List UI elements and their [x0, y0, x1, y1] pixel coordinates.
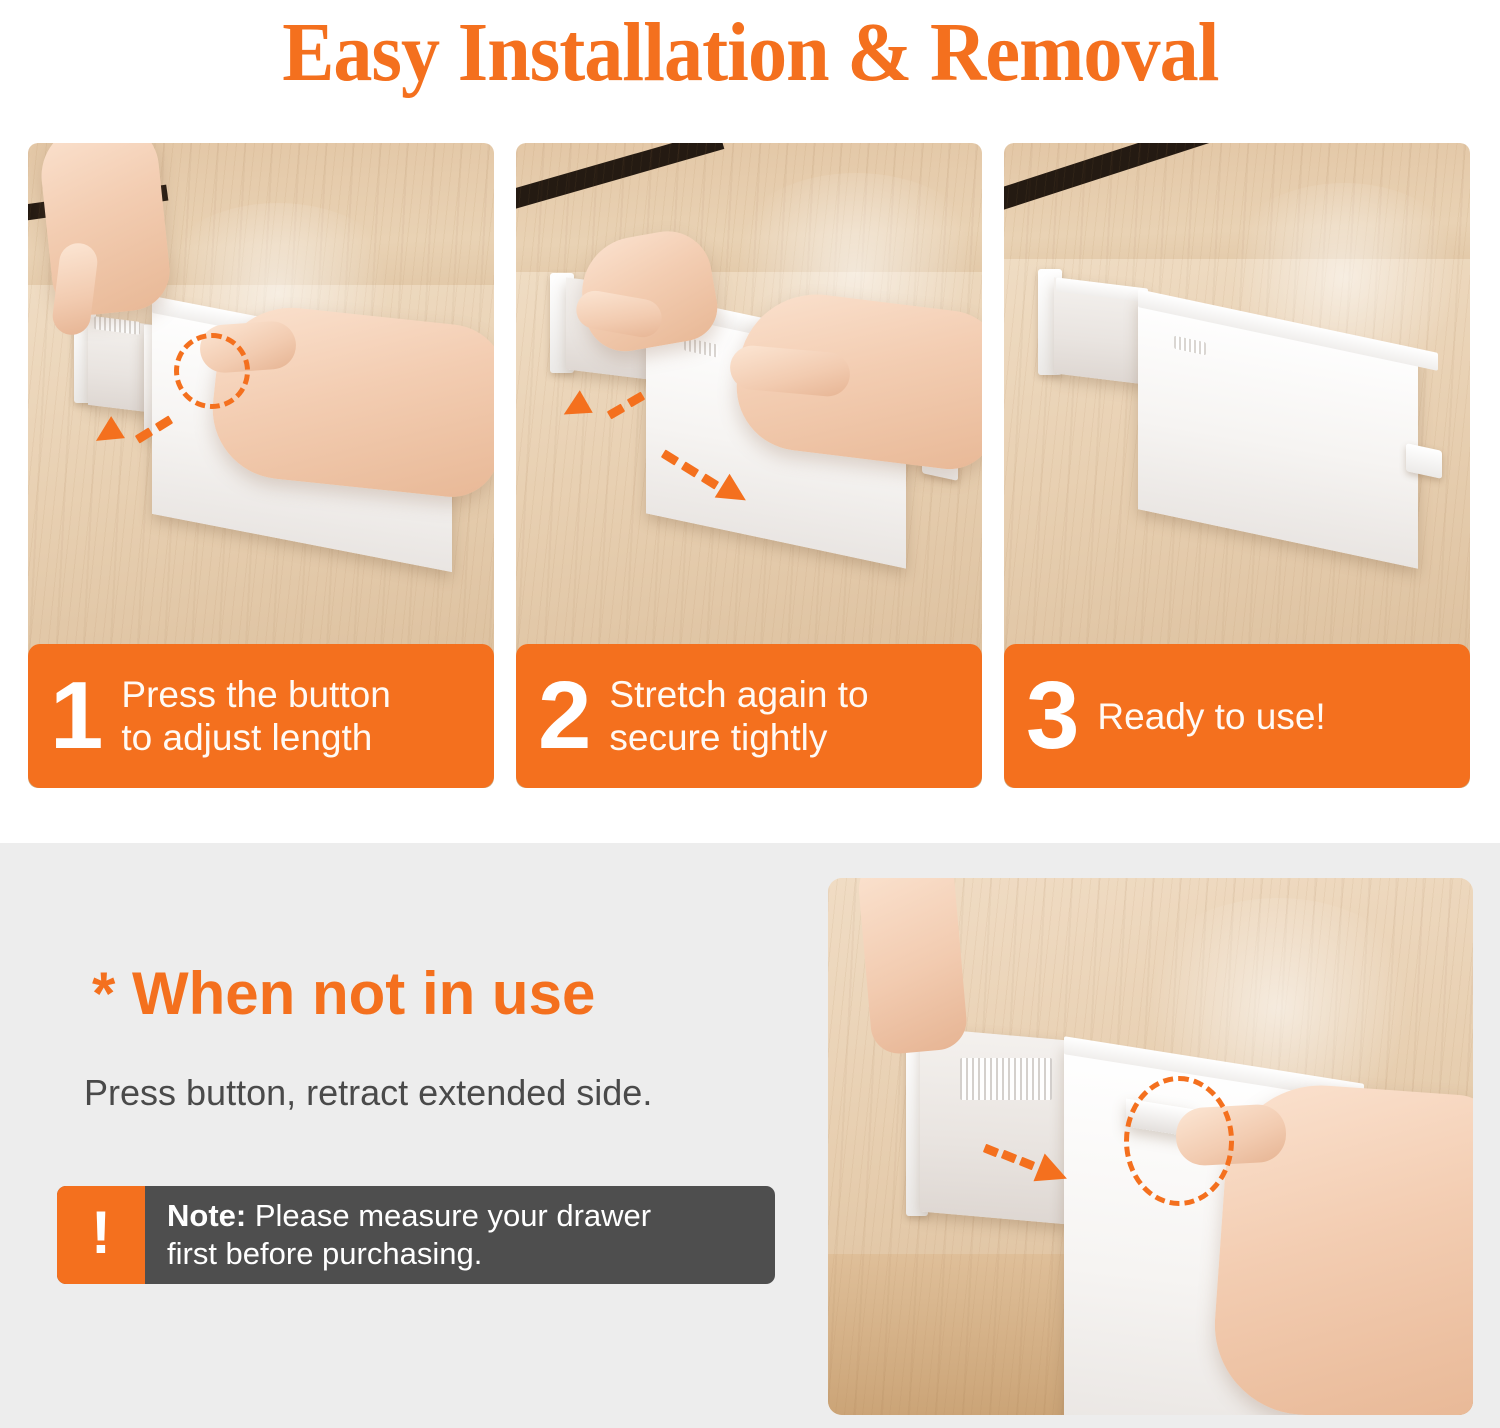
note-label: Note:	[167, 1198, 246, 1233]
step-1-line-1: Press the button	[121, 674, 390, 715]
step-3-caption: 3 Ready to use!	[1004, 644, 1470, 788]
top-index-finger	[855, 878, 969, 1056]
dashed-arrow-upleft-icon	[550, 379, 650, 433]
dashed-arrow-left-icon	[84, 411, 174, 457]
dashed-arrow-downright-icon	[660, 447, 780, 523]
step-1-line-2: to adjust length	[121, 716, 390, 759]
step-1-caption: 1 Press the button to adjust length	[28, 644, 494, 788]
note-body-line-1: Please measure your drawer	[246, 1198, 651, 1233]
step-card-1: 1 Press the button to adjust length	[28, 143, 494, 788]
note-text: Note: Please measure your drawer first b…	[145, 1186, 775, 1284]
dashed-circle-highlight-icon	[1124, 1076, 1234, 1206]
step-2-line-2: secure tightly	[609, 716, 868, 759]
step-3-number: 3	[1026, 668, 1079, 764]
step-1-text: Press the button to adjust length	[121, 673, 390, 759]
step-card-2: 2 Stretch again to secure tightly	[516, 143, 982, 788]
retract-photo	[828, 878, 1473, 1415]
lower-left-text-block: * When not in use Press button, retract …	[92, 961, 792, 1115]
step-card-3: 3 Ready to use!	[1004, 143, 1470, 788]
when-not-in-use-heading: * When not in use	[92, 961, 792, 1027]
step-2-caption: 2 Stretch again to secure tightly	[516, 644, 982, 788]
exclamation-icon: !	[91, 1203, 111, 1263]
title-bar: Easy Installation & Removal	[0, 0, 1500, 105]
step-3-text: Ready to use!	[1097, 695, 1325, 738]
divider-ridges	[960, 1058, 1052, 1100]
step-2-text: Stretch again to secure tightly	[609, 673, 868, 759]
note-body-line-2: first before purchasing.	[167, 1236, 482, 1271]
step-2-line-1: Stretch again to	[609, 674, 868, 715]
dashed-circle-highlight-icon	[174, 333, 250, 409]
step-3-line-1: Ready to use!	[1097, 696, 1325, 737]
step-2-number: 2	[538, 668, 591, 764]
installation-steps-row: 1 Press the button to adjust length	[28, 143, 1472, 788]
note-box: ! Note: Please measure your drawer first…	[57, 1186, 775, 1284]
dashed-arrow-right-icon	[980, 1136, 1100, 1196]
exclamation-badge: !	[57, 1186, 145, 1284]
page-title: Easy Installation & Removal	[282, 11, 1218, 95]
when-not-in-use-subtext: Press button, retract extended side.	[84, 1071, 792, 1115]
step-1-number: 1	[50, 668, 103, 764]
